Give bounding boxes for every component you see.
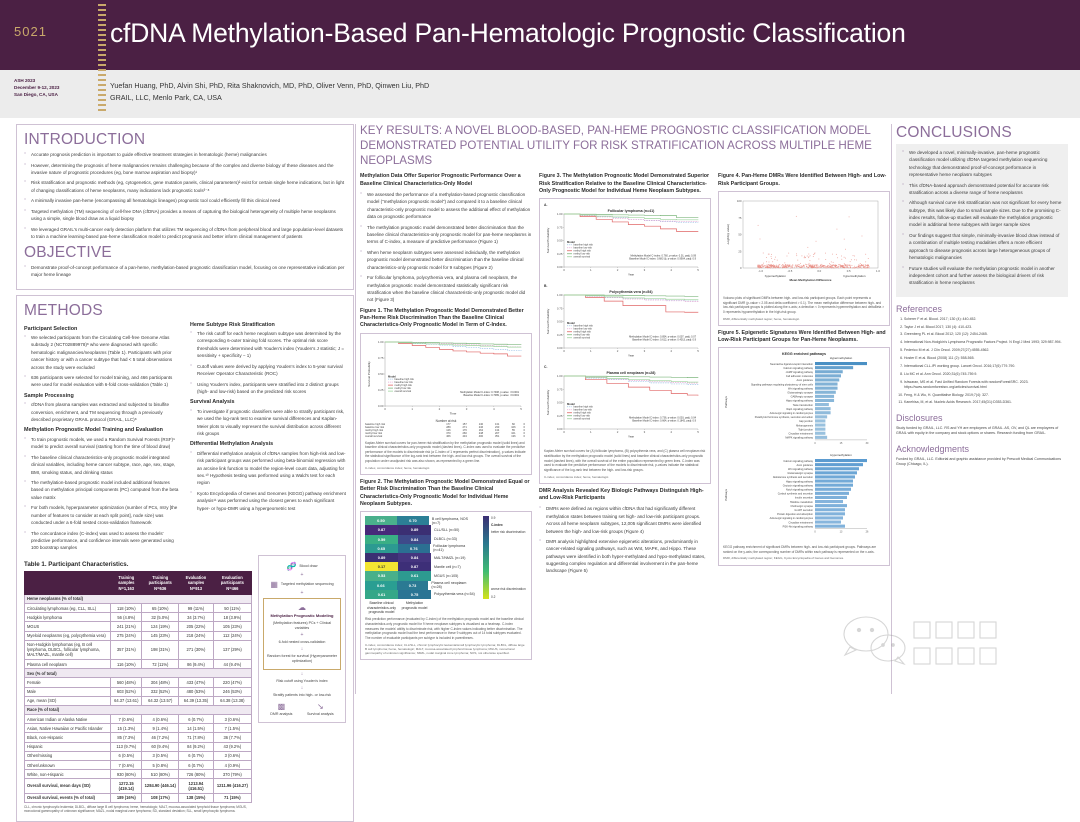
svg-text:Histidine metabolism: Histidine metabolism	[790, 501, 813, 504]
heatmap-cell: 0.53	[365, 571, 398, 580]
conference-name: ASH 2023	[14, 78, 94, 85]
figure3-panel-b: B.Polycythemia vera (n=54)0.000.250.500.…	[544, 284, 706, 365]
table-cell: 241 (21%)	[111, 622, 142, 631]
table-row-label: overall survival	[365, 435, 440, 438]
figure3-panel-c: C.Plasma cell neoplasm (n=28)0.000.250.5…	[544, 365, 706, 446]
table-row-label: MGUS	[25, 622, 111, 631]
blood-draw-icon: 🧬	[287, 561, 297, 572]
reference-item: Scherer F et al. Blood. 2017; 130 (4): 4…	[904, 317, 1068, 322]
list-item: We selected participants from the Circul…	[24, 334, 180, 371]
conclusions-heading: CONCLUSIONS	[896, 124, 1068, 142]
intro-objective-panel: INTRODUCTION Accurate prognosis predicti…	[16, 124, 354, 290]
table-cell: 930 (80%)	[111, 770, 142, 779]
table-group-label: Heme neoplasms (% of total)	[25, 594, 252, 603]
table-cell: 116 (10%)	[111, 659, 142, 668]
figure4-box: 0255075100-1.0-0.50.00.51.0-Log10(q valu…	[718, 191, 890, 326]
heatmap-cell: 0.87	[398, 562, 431, 571]
table-cell: 105 (23%)	[213, 622, 251, 631]
svg-text:Pathways: Pathways	[724, 396, 728, 408]
table-cell: 189 (16%)	[111, 793, 142, 802]
svg-text:Glutamatergic synapse: Glutamatergic synapse	[787, 472, 813, 475]
list-item: We developed a novel, minimally-invasive…	[902, 149, 1062, 178]
reference-item: Kanehisa, M, et al. Nucleic Acids Resear…	[904, 400, 1068, 405]
table-row: Hodgkin lymphoma56 (4.8%)32 (5.0%)34 (3.…	[25, 613, 252, 622]
table-cell: 603 (52%)	[111, 687, 142, 696]
heatmap-cell: 0.87	[365, 525, 398, 534]
svg-text:0.00: 0.00	[378, 404, 384, 408]
reference-item: Liu MC et al. Ann Oncol. 2020;31(6):745-…	[904, 372, 1068, 377]
svg-text:1.00: 1.00	[378, 340, 384, 344]
svg-text:Plasma cell neoplasm (n=28): Plasma cell neoplasm (n=28)	[606, 371, 656, 375]
svg-text:0.75: 0.75	[557, 388, 563, 392]
reference-item: Taylor J et al. Blood 2017; 130 (4): 410…	[904, 325, 1068, 330]
svg-text:Survival Probability: Survival Probability	[546, 309, 550, 335]
list-item: To train prognostic models, we used a Ra…	[24, 436, 180, 451]
model-line: 6-fold nested cross-validation	[266, 640, 338, 645]
methods-left: Participant Selection We selected partic…	[24, 322, 180, 555]
heatmap-cell: 0.61	[398, 571, 431, 580]
figure4-title: Figure 4. Pan-Heme DMRs Were Identified …	[718, 173, 890, 188]
list-item: The concordance index (C-index) was used…	[24, 530, 180, 552]
figure4-volcano-chart: 0255075100-1.0-0.50.00.51.0-Log10(q valu…	[723, 196, 885, 293]
list-item: A minimally invasive pan-heme (encompass…	[24, 197, 346, 204]
table-row: Overall survival, mean days (SD)1272.15 …	[25, 779, 252, 793]
cloud-model-icon: ☁	[266, 602, 338, 613]
figure3-title: Figure 3. The Methylation Prognostic Mod…	[539, 173, 711, 195]
heatmap-cell: 0.84	[398, 535, 431, 544]
conference-location: San Diego, CA, USA	[14, 92, 94, 99]
heatmap-cell: 0.73	[397, 581, 429, 590]
svg-text:0.00: 0.00	[557, 265, 563, 269]
methods-heading: METHODS	[24, 302, 346, 320]
table-cell: 44 (9.4%)	[213, 659, 251, 668]
table-cell: 15 (1.3%)	[111, 724, 142, 733]
table-row: American Indian or Alaska Native7 (0.6%)…	[25, 715, 252, 724]
svg-text:Axon guidance: Axon guidance	[796, 380, 813, 383]
svg-text:Survival Probability: Survival Probability	[546, 228, 550, 254]
svg-text:PI3K-Akt signaling pathway: PI3K-Akt signaling pathway	[783, 526, 814, 529]
table-col-header: Evaluation samples N=913	[179, 571, 214, 594]
heatmap-cell: 0.70	[397, 516, 429, 525]
svg-text:0.25: 0.25	[557, 252, 563, 256]
table-cell: 50 (11%)	[213, 604, 251, 613]
list-item: Our findings suggest that simple, minima…	[902, 232, 1062, 261]
svg-text:Oxytocin signaling pathway: Oxytocin signaling pathway	[783, 485, 814, 488]
list-item: The risk cutoff for each heme neoplasm s…	[190, 330, 346, 359]
svg-text:Protein digestion and absorpti: Protein digestion and absorption	[777, 513, 813, 516]
table-cell: 4 (0.6%)	[142, 715, 179, 724]
methods-subhead: Participant Selection	[24, 326, 180, 332]
svg-text:Adrenergic signaling in cardio: Adrenergic signaling in cardiomyocytes	[770, 412, 814, 415]
heatmap-cell: 0.65	[365, 544, 398, 553]
arrow-icon: ↓	[263, 686, 341, 691]
conclusions-bullets: We developed a novel, minimally-invasive…	[902, 149, 1062, 287]
table-row: Age, mean (SD)64.37 (13.61)64.32 (13.57)…	[25, 696, 252, 705]
figure5-box: KEGG enriched pathways HypermethylationN…	[718, 347, 890, 565]
dmr-section-title: DMR Analysis Revealed Key Biologic Pathw…	[539, 488, 711, 503]
conclusions-panel: We developed a novel, minimally-invasive…	[896, 144, 1068, 297]
svg-text:Hypomethylation: Hypomethylation	[830, 454, 852, 458]
svg-text:1.0: 1.0	[876, 269, 880, 273]
km-svg: Follicular lymphoma (n=41)0.000.250.500.…	[544, 207, 702, 279]
svg-text:1.00: 1.00	[557, 293, 563, 297]
table-row: MGUS241 (21%)124 (19%)205 (22%)105 (23%)	[25, 622, 252, 631]
figure2-heatmap: 0.500.70B cell lymphoma, NOS (n=7)0.870.…	[365, 516, 527, 599]
svg-text:75: 75	[738, 216, 742, 220]
workflow-diagram: 🧬 Blood draw + ▦ Targeted methylation se…	[258, 555, 346, 724]
table-cell: 32 (5.0%)	[142, 613, 179, 622]
svg-text:Follicular lymphoma (n=41): Follicular lymphoma (n=41)	[608, 209, 655, 213]
list-item: When heme neoplasm subtypes were assesse…	[360, 249, 532, 271]
results-grid: Methylation Data Offer Superior Prognost…	[360, 173, 890, 660]
methods-bullets: To train prognostic models, we used a Ra…	[24, 436, 180, 552]
table-cell: 7 (0.6%)	[111, 715, 142, 724]
svg-text:Survival Probability: Survival Probability	[546, 390, 550, 416]
heatmap-row-label: MALT/NMZL (n=19)	[431, 553, 465, 562]
figure3-panel-a: A.Follicular lymphoma (n=41)0.000.250.50…	[544, 203, 706, 284]
table-cell: 14 (1.5%)	[179, 724, 214, 733]
svg-text:-Log10(q value): -Log10(q value)	[726, 224, 730, 245]
heatmap-row: 0.590.84DLBCL (n=33)	[365, 535, 476, 544]
table-cell: 6 (0.5%)	[111, 751, 142, 760]
figure5-caption: KEGG pathway enrichment of significant D…	[723, 545, 885, 554]
svg-text:50: 50	[738, 233, 742, 237]
svg-text:-0.5: -0.5	[788, 269, 793, 273]
table-cell: 43 (9.2%)	[213, 742, 251, 751]
cutoff-step: Risk cutoff using Youden's index	[263, 679, 341, 684]
svg-text:Survival Probability: Survival Probability	[367, 360, 371, 386]
table-cell: 145 (23%)	[142, 631, 179, 640]
table-row-label: Female	[25, 678, 111, 687]
heatmap-row: 0.650.76Follicular lymphoma (n=41)	[365, 544, 476, 553]
figure4-abbr: DMR, differentially methylated region; h…	[723, 317, 885, 321]
reference-item: Greenberg PL et al. Blood 2012; 120 (12)…	[904, 332, 1068, 337]
header-tick-rule	[98, 4, 106, 114]
plus-icon: +	[263, 573, 341, 578]
svg-text:0.25: 0.25	[557, 414, 563, 418]
methods-subhead: Heme Subtype Risk Stratification	[190, 322, 346, 328]
km-svg: Plasma cell neoplasm (n=28)0.000.250.500…	[544, 369, 702, 441]
list-item: DMRs were defined as regions within cfDN…	[539, 505, 711, 534]
table-row: Circulating lymphomas (eg, CLL, SLL)118 …	[25, 604, 252, 613]
plus-icon: +	[266, 633, 338, 638]
reference-item: Feng, H & Wu, H. Quantitative Biology. 2…	[904, 393, 1068, 398]
table-row-label: Circulating lymphomas (eg, CLL, SLL)	[25, 604, 111, 613]
svg-text:Wnt signaling pathway: Wnt signaling pathway	[788, 388, 814, 391]
table-cell: 275 (24%)	[111, 631, 142, 640]
table-cell: 434	[457, 435, 473, 438]
table-row-label: Other/unknown	[25, 761, 111, 770]
figure2-box: 0.500.70B cell lymphoma, NOS (n=7)0.870.…	[360, 511, 532, 660]
table-cell: 480 (53%)	[179, 687, 214, 696]
table-cell: 99 (11%)	[179, 604, 214, 613]
svg-text:Cell adhesion molecules: Cell adhesion molecules	[786, 376, 814, 379]
table-cell: 64.38 (13.38)	[213, 696, 251, 705]
methods-bullets: Differential methylation analysis of cfD…	[190, 450, 346, 512]
methods-subhead: Sample Processing	[24, 393, 180, 399]
table-cell: 64.39 (13.35)	[179, 696, 214, 705]
svg-text:Cortisol synthesis and secreti: Cortisol synthesis and secretion	[778, 493, 814, 496]
svg-text:0.5: 0.5	[847, 269, 851, 273]
svg-text:Neuroactive ligand-receptor in: Neuroactive ligand-receptor interaction	[770, 363, 814, 366]
table-cell: 7 (1.5%)	[213, 724, 251, 733]
kegg-panel-0: HypermethylationNeuroactive ligand-recep…	[723, 356, 883, 448]
heatmap-row: 0.170.87Mantle cell (n=7)	[365, 562, 476, 571]
list-item: Accurate prognosis prediction is importa…	[24, 151, 346, 158]
list-item: Kyoto Encyclopedia of Genes and Genomes …	[190, 490, 346, 512]
heatmap-cell: 0.50	[365, 516, 397, 525]
reference-item: Federico M et al. J Clin Oncol. 2009;27(…	[904, 348, 1068, 353]
risk-table: baseline high risk177157140131600baselin…	[365, 423, 527, 438]
table-row: Female560 (48%)304 (48%)433 (47%)220 (47…	[25, 678, 252, 687]
heatmap-row-label: Plasma cell neoplasm (n=28)	[428, 581, 476, 590]
heatmap-cell: 0.66	[365, 581, 397, 590]
heatmap-cells: 0.500.70B cell lymphoma, NOS (n=7)0.870.…	[365, 516, 476, 599]
table-row-label: Age, mean (SD)	[25, 696, 111, 705]
dmr-chart-icon: ▩	[270, 701, 292, 712]
page-title: cfDNA Methylation-Based Pan-Hematologic …	[110, 18, 1050, 49]
methods-subhead: Methylation Prognostic Model Training an…	[24, 427, 180, 433]
svg-text:Hippo signaling pathway: Hippo signaling pathway	[786, 481, 814, 484]
table-cell: 4 (0.9%)	[213, 761, 251, 770]
kegg-panel-1: HypomethylationCalcium signaling pathway…	[723, 453, 883, 537]
model-box: ☁ Methylation Prognostic Modeling (Methy…	[263, 598, 341, 670]
reference-items: Scherer F et al. Blood. 2017; 130 (4): 4…	[896, 317, 1068, 406]
table-row-label: Plasma cell neoplasm	[25, 659, 111, 668]
svg-text:Baseline Model C-index: 0.7089: Baseline Model C-index: 0.7089, p-value:…	[463, 394, 519, 397]
heatmap-row: 0.870.89CLL/SLL (n=50)	[365, 525, 476, 534]
heatmap-row: 0.660.73Plasma cell neoplasm (n=28)	[365, 581, 476, 590]
table-row: Other/missing6 (0.5%)3 (0.5%)6 (0.7%)3 (…	[25, 751, 252, 760]
table-cell: 304 (48%)	[142, 678, 179, 687]
figure1-title: Figure 1. The Methylation Prognostic Mod…	[360, 308, 532, 330]
figure5-abbr: DMR, differentially methylated region; K…	[723, 556, 885, 560]
svg-text:Year: Year	[628, 354, 634, 358]
table-cell: 1284.90 (446.14)	[142, 779, 179, 793]
figure3-box: A.Follicular lymphoma (n=41)0.000.250.50…	[539, 198, 711, 483]
methods-bullets: To investigate if prognostic classifiers…	[190, 408, 346, 437]
svg-text:0.00: 0.00	[557, 427, 563, 431]
methods-subhead: Differential Methylation Analysis	[190, 441, 346, 447]
participant-characteristics-table: Training samples N=1,163Training partici…	[24, 571, 252, 803]
table-cell: 60 (9.4%)	[142, 742, 179, 751]
svg-text:Hypermethylation: Hypermethylation	[830, 357, 853, 361]
table-cell: 64.37 (13.61)	[111, 696, 142, 705]
figure2-caption: Risk prediction performance (evaluated b…	[365, 617, 527, 640]
heatmap-cell: 0.84	[398, 553, 431, 562]
svg-text:MAPK signaling pathway: MAPK signaling pathway	[785, 437, 813, 440]
svg-text:Baseline Model C-index: 0.683: Baseline Model C-index: 0.683 (t), p-val…	[629, 258, 696, 261]
svg-text:overall survival: overall survival	[574, 256, 591, 259]
svg-text:Insulin secretion: Insulin secretion	[795, 497, 814, 500]
figure1-km-chart: 0.000.250.500.751.00012345TimeSurvival P…	[365, 338, 527, 418]
plus-icon: +	[263, 591, 341, 596]
methods-panel: METHODS Participant Selection We selecte…	[16, 295, 354, 822]
heatmap-row: 0.890.84MALT/NMZL (n=19)	[365, 553, 476, 562]
heatmap-row-label: CLL/SLL (n=50)	[431, 525, 459, 534]
methods-bullets: The risk cutoff for each heme neoplasm s…	[190, 330, 346, 395]
table-row: Heme neoplasms (% of total)	[25, 594, 252, 603]
disclosures-heading: Disclosures	[896, 413, 1068, 423]
table-cell: 1211.96 (416.27)	[213, 779, 251, 793]
heatmap-cell: 0.17	[365, 562, 398, 571]
figure3-abbr: C-index, concordance index; heme, hemato…	[544, 475, 706, 479]
results-col-2: Figure 3. The Methylation Prognostic Mod…	[539, 173, 711, 660]
list-item: The methylation prognostic model demonst…	[360, 224, 532, 246]
svg-text:Time: Time	[450, 411, 457, 415]
table-row: Asian, Native Hawaiian or Pacific Island…	[25, 724, 252, 733]
table-row: Hispanic113 (9.7%)60 (9.4%)84 (9.2%)43 (…	[25, 742, 252, 751]
table-cell: 1272.15 (419.14)	[111, 779, 142, 793]
figure1-abbr: C-index, concordance index; heme, hemato…	[365, 466, 527, 470]
heatmap-cell: 0.76	[398, 544, 431, 553]
table-cell: 6 (0.7%)	[179, 761, 214, 770]
table-cell: 332 (52%)	[142, 687, 179, 696]
poster-id: 5021	[14, 24, 47, 39]
table-row: overall survival4664344003511360	[365, 435, 527, 438]
table-cell: 560 (48%)	[111, 678, 142, 687]
svg-text:Hippo signaling pathway: Hippo signaling pathway	[786, 400, 814, 403]
table1-footnote: CLL, chronic lymphocytic leukemia; DLBCL…	[24, 805, 252, 814]
table-cell: 357 (31%)	[111, 640, 142, 659]
svg-text:Year: Year	[628, 273, 634, 277]
table-cell: 466	[440, 435, 456, 438]
list-item: Targeted methylation (TM) sequencing of …	[24, 208, 346, 223]
table-cell: 86 (9.4%)	[179, 659, 214, 668]
table-row-label: Hispanic	[25, 742, 111, 751]
svg-text:Baseline Model C-index: 0.612,: Baseline Model C-index: 0.612, p-value: …	[632, 339, 696, 342]
list-item: Although survival curve risk stratificat…	[902, 199, 1062, 228]
svg-text:Signaling pathways regulating: Signaling pathways regulating pluripoten…	[751, 384, 814, 387]
svg-text:0.75: 0.75	[378, 356, 384, 360]
heatmap-row-label: Mantle cell (n=7)	[431, 562, 461, 571]
figure4-caption: Volcano plots of significant DMRs betwee…	[723, 296, 885, 315]
table-cell: 34 (3.7%)	[179, 613, 214, 622]
table-col-header: Training samples N=1,163	[111, 571, 142, 594]
figure3-caption: Kaplan-Meier survival curves for (A) fol…	[544, 449, 706, 472]
methods-bullets: We selected participants from the Circul…	[24, 334, 180, 389]
column-divider-left	[355, 124, 356, 694]
list-item: Future studies will evaluate the methyla…	[902, 265, 1062, 287]
heatmap-row: 0.530.61MGUS (n=105)	[365, 571, 476, 580]
svg-text:0.00: 0.00	[557, 346, 563, 350]
list-item: Differential methylation analysis of cfD…	[190, 450, 346, 487]
figure5-title: Figure 5. Epigenetic Signatures Were Ide…	[718, 330, 890, 345]
table-cell: 36 (7.7%)	[213, 733, 251, 742]
reference-item: Ishwaran, MS et al. Fast Unified Random …	[904, 380, 1068, 391]
svg-text:0.50: 0.50	[378, 372, 384, 376]
svg-text:Parathyroid hormone synthesis,: Parathyroid hormone synthesis, secretion…	[755, 417, 814, 420]
heatmap-row: 0.500.70B cell lymphoma, NOS (n=7)	[365, 516, 476, 525]
acknowledgments-heading: Acknowledgments	[896, 444, 1068, 454]
figure1-box: 0.000.250.500.751.00012345TimeSurvival P…	[360, 333, 532, 475]
heatmap-col1-label: Baseline clinical characteristics-only p…	[365, 599, 398, 614]
reference-item: International CLL-IPI working group. Lan…	[904, 364, 1068, 369]
figure1-risk-table: baseline high risk177157140131600baselin…	[365, 423, 527, 438]
table-cell: 71 (15%)	[213, 793, 251, 802]
heatmap-row-label: DLBCL (n=33)	[431, 535, 457, 544]
svg-text:0.50: 0.50	[557, 239, 563, 243]
svg-text:Glutamatergic synapse: Glutamatergic synapse	[787, 392, 813, 395]
svg-text:1.00: 1.00	[557, 374, 563, 378]
methods-bullets: cfDNA from plasma samples was extracted …	[24, 401, 180, 423]
workflow-step: Targeted methylation sequencing	[281, 582, 334, 587]
table-cell: 726 (80%)	[179, 770, 214, 779]
figure1-caption: Kaplan-Meier survival curves for pan-hem…	[365, 441, 527, 464]
list-item: Using Youden's index, participants were …	[190, 381, 346, 396]
km-svg: Polycythemia vera (n=54)0.000.250.500.75…	[544, 288, 702, 360]
table-cell: 400	[473, 435, 489, 438]
table-cell: 218 (24%)	[179, 631, 214, 640]
objective-bullets: Demonstrate proof-of-concept performance…	[24, 264, 346, 279]
table-cell: 18 (3.9%)	[213, 613, 251, 622]
table-cell: 0	[522, 435, 527, 438]
svg-text:0.0: 0.0	[817, 269, 821, 273]
table-cell: 136	[505, 435, 521, 438]
table-group-label: Race (% of total)	[25, 705, 252, 714]
svg-text:Wnt signaling pathway: Wnt signaling pathway	[788, 468, 814, 471]
disclosures-text: Study funded by GRAIL, LLC. RS and YH ar…	[896, 426, 1068, 437]
svg-text:1.00: 1.00	[557, 212, 563, 216]
volcano-svg: 0255075100-1.0-0.50.00.51.0-Log10(q valu…	[723, 196, 883, 288]
heatmap-row-label: MGUS (n=105)	[431, 571, 458, 580]
model-title: Methylation Prognostic Modeling	[266, 613, 338, 619]
reference-item: Hoster E et al. Blood (2008) 111 (2): 55…	[904, 356, 1068, 361]
table-col-header: Training participants N=636	[142, 571, 179, 594]
sequencing-icon: ▦	[270, 579, 278, 590]
svg-text:hypomethylation: hypomethylation	[765, 274, 786, 278]
svg-text:Circadian entrainment: Circadian entrainment	[789, 522, 814, 525]
table-row-label: Black, non-Hispanic	[25, 733, 111, 742]
table-cell: 84 (9.2%)	[179, 742, 214, 751]
middle-column: KEY RESULTS: A NOVEL BLOOD-BASED, PAN-HE…	[360, 124, 890, 660]
table-row: Overall survival, events (% of total)189…	[25, 793, 252, 802]
list-item: We leveraged GRAIL's multi-cancer early …	[24, 226, 346, 241]
table-cell: 271 (30%)	[179, 640, 214, 659]
table-cell: 85 (7.3%)	[111, 733, 142, 742]
svg-text:100: 100	[737, 199, 742, 203]
colorbar-top-label: better risk discrimination	[491, 530, 525, 534]
table-cell: 3 (0.5%)	[142, 751, 179, 760]
svg-text:0.50: 0.50	[557, 401, 563, 405]
list-item: For follicular lymphoma, polycythemia ve…	[360, 274, 532, 303]
colorbar	[483, 516, 489, 599]
output-label: DMR analysis	[270, 712, 292, 717]
stratify-step: Stratify patients into high- or low-risk	[263, 693, 341, 698]
heatmap-cell: 0.89	[365, 553, 398, 562]
table-row-label: Other/missing	[25, 751, 111, 760]
workflow-step: Blood draw	[299, 564, 317, 569]
table-row-label: American Indian or Alaska Native	[25, 715, 111, 724]
colorbar-min: 0.2	[491, 595, 495, 599]
references-list: Scherer F et al. Blood. 2017; 130 (4): 4…	[896, 317, 1068, 406]
svg-text:cAMP signaling pathway: cAMP signaling pathway	[786, 371, 814, 374]
svg-text:0.25: 0.25	[378, 388, 384, 392]
heatmap-cell: 0.75	[398, 590, 431, 599]
table-row-label: Asian, Native Hawaiian or Pacific Island…	[25, 724, 111, 733]
references-heading: References	[896, 304, 1068, 314]
left-column: INTRODUCTION Accurate prognosis predicti…	[16, 124, 354, 822]
table-col-header: Evaluation participants N=466	[213, 571, 251, 594]
reference-item: International Non-Hodgkin's Lymphoma Pro…	[904, 340, 1068, 345]
svg-text:hypermethylation: hypermethylation	[844, 274, 866, 278]
svg-text:Polycythemia vera (n=54): Polycythemia vera (n=54)	[609, 290, 653, 294]
heatmap-row: 0.610.75Polycythemia vera (n=54)	[365, 590, 476, 599]
table-row: Plasma cell neoplasm116 (10%)72 (11%)86 …	[25, 659, 252, 668]
list-item: We assessed the performance of a methyla…	[360, 191, 532, 220]
table-row: Other/unknown7 (0.6%)5 (0.8%)6 (0.7%)4 (…	[25, 761, 252, 770]
figure2-title: Figure 2. The Methylation Prognostic Mod…	[360, 479, 532, 508]
